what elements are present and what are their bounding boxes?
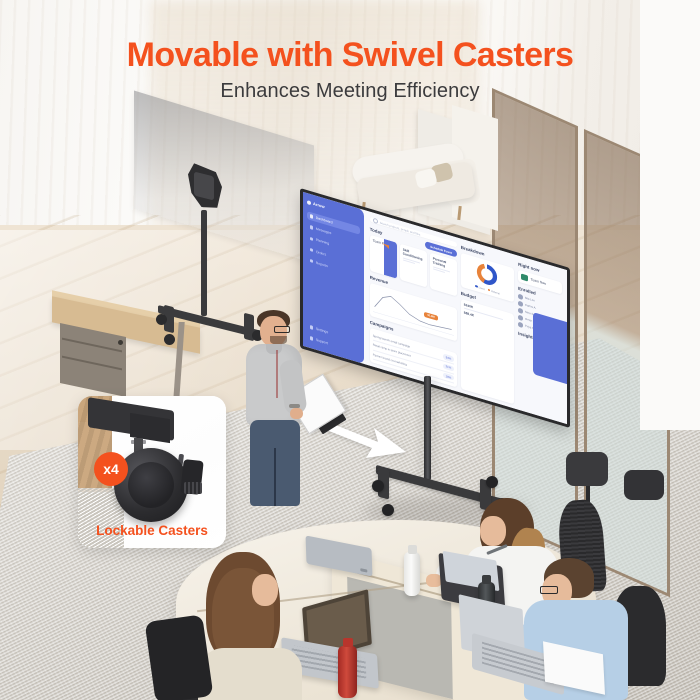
- person-torso: [198, 648, 302, 700]
- office-chair-far: [624, 470, 664, 500]
- page-title: Movable with Swivel Casters: [0, 38, 700, 72]
- sofa-leg: [457, 206, 461, 220]
- ghost-stand-pole: [201, 210, 207, 316]
- page-subtitle: Enhances Meeting Efficiency: [0, 80, 700, 103]
- campaign-value: 21%: [443, 363, 454, 371]
- caster-wheel-hub: [128, 462, 174, 508]
- section-title-today: Today: [370, 226, 383, 235]
- person-name: Mia Lee: [525, 296, 535, 303]
- caster-wheel: [164, 334, 175, 345]
- grid-icon: [310, 214, 313, 218]
- office-chair-far: [566, 452, 608, 486]
- mail-icon: [310, 225, 313, 229]
- campaign-value: 34%: [443, 354, 454, 362]
- avatar: [518, 315, 523, 321]
- vesa-mount-plate: [194, 172, 214, 201]
- calendar-icon: [310, 237, 313, 241]
- card-skill-conditioning[interactable]: Skill Conditioning: [400, 244, 427, 288]
- campaign-value: 18%: [443, 373, 454, 381]
- caster-wheel: [156, 314, 167, 325]
- dashboard-middle-column: Breakdown Direct Referral: [461, 244, 514, 405]
- person-presenting: [232, 308, 324, 508]
- budget-card: $240K $88.4K: [461, 299, 514, 405]
- eyeglasses: [274, 326, 290, 333]
- stand-pole: [424, 376, 431, 480]
- avatar: [518, 322, 523, 328]
- shirt-placket: [276, 350, 278, 398]
- legend-item: Direct: [475, 284, 485, 290]
- person-hand: [290, 408, 303, 419]
- chart-icon: [310, 259, 313, 263]
- product-marketing-image: Arrow Dashboard Messages: [0, 0, 700, 700]
- trouser-seam: [274, 448, 276, 506]
- card-personal-training[interactable]: Personal Training: [430, 253, 457, 297]
- person-head: [252, 574, 278, 606]
- drawer-knob: [118, 340, 123, 345]
- person-seated-foreground: [196, 552, 306, 700]
- legend-item: Referral: [488, 288, 500, 295]
- caster-wheel: [382, 504, 394, 516]
- dashboard-primary-column: Search projects, people and files Today …: [370, 217, 457, 388]
- cart-icon: [310, 248, 313, 252]
- search-icon: [373, 218, 378, 224]
- caster-wheel: [372, 480, 384, 492]
- sidebar-item-label: Dashboard: [316, 216, 333, 225]
- office-chair-foreground: [145, 614, 214, 700]
- mobile-tv-stand: Arrow Dashboard Messages: [300, 228, 572, 498]
- logo-icon: [307, 200, 311, 205]
- eyeglasses: [540, 586, 558, 594]
- logo-label: Arrow: [313, 201, 325, 209]
- sidebar-item-label: Planning: [316, 238, 329, 246]
- avatar: [518, 301, 523, 307]
- caster-wheel: [486, 476, 498, 488]
- sidebar-item-label: Reports: [316, 260, 328, 268]
- sidebar-item-label: Orders: [316, 249, 326, 256]
- callout-label: Lockable Casters: [78, 523, 226, 538]
- dashboard-blue-accent: [533, 312, 567, 384]
- avatar: [518, 308, 523, 314]
- avatar: [518, 294, 523, 300]
- water-bottle-white: [404, 552, 420, 596]
- caster-lock-tread: [184, 482, 202, 494]
- dashboard-nav: Dashboard Messages Planning: [307, 211, 360, 279]
- shirt-collar: [266, 344, 282, 354]
- card-team-flow[interactable]: Team Flow: [370, 235, 397, 279]
- sidebar-item-label: Messages: [316, 227, 331, 236]
- video-thumbnail: [521, 274, 528, 282]
- water-bottle-red: [338, 646, 357, 698]
- person-head: [480, 516, 506, 546]
- caster-callout-card: x4 Lockable Casters: [78, 396, 226, 548]
- right-now-label: Team flow: [531, 277, 546, 286]
- quantity-badge: x4: [94, 452, 128, 486]
